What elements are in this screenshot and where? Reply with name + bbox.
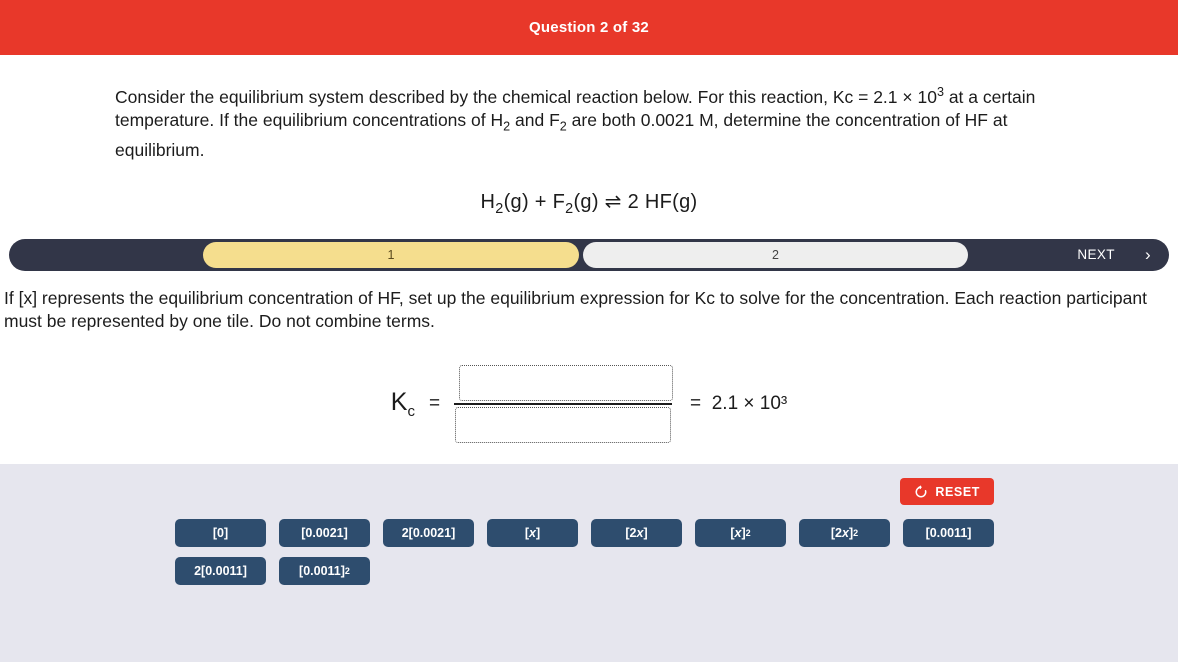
answer-tiles: [0][0.0021]2[0.0021][x][2x][x]2[2x]2[0.0… [0,505,1010,585]
question-section: Consider the equilibrium system describe… [0,55,1178,217]
numerator-dropzone[interactable] [459,365,673,401]
task-instruction: If [x] represents the equilibrium concen… [4,287,1164,334]
answer-tile[interactable]: [2x]2 [799,519,890,547]
tile-tray: RESET [0][0.0021]2[0.0021][x][2x][x]2[2x… [0,464,1178,662]
step-2-label: 2 [772,248,779,262]
kc-label: Kc [391,388,415,420]
expression-result: = 2.1 × 10³ [690,393,787,415]
step-2-pill[interactable]: 2 [583,242,968,268]
chevron-right-icon: › [1145,246,1151,263]
fraction [454,365,672,443]
answer-tile[interactable]: [0] [175,519,266,547]
step-1-pill[interactable]: 1 [203,242,579,268]
denominator-dropzone[interactable] [455,407,671,443]
answer-tile[interactable]: [2x] [591,519,682,547]
next-button[interactable]: NEXT › [1077,239,1151,271]
chemical-equation: H2(g) + F2(g) ⇌ 2 HF(g) [0,189,1178,217]
question-prompt: Consider the equilibrium system describe… [115,81,1063,163]
kc-letter: K [391,388,408,416]
reset-button[interactable]: RESET [900,478,994,505]
equals-sign-right: = [690,393,701,414]
equilibrium-expression: Kc = = 2.1 × 10³ [0,356,1178,452]
next-button-label: NEXT [1077,247,1115,262]
answer-tile[interactable]: [0.0021] [279,519,370,547]
answer-tile[interactable]: 2[0.0011] [175,557,266,585]
answer-tile[interactable]: 2[0.0021] [383,519,474,547]
step-navigation: 1 2 NEXT › [0,239,1178,271]
fraction-bar [454,403,672,405]
step-1-label: 1 [388,248,395,262]
answer-tile[interactable]: [0.0011]2 [279,557,370,585]
reset-row: RESET [0,464,1178,505]
answer-tile[interactable]: [0.0011] [903,519,994,547]
kc-value: 2.1 × 10³ [712,393,788,414]
question-header: Question 2 of 32 [0,0,1178,55]
reset-button-label: RESET [935,485,980,499]
step-nav-bar: 1 2 NEXT › [9,239,1169,271]
question-counter: Question 2 of 32 [529,19,649,36]
answer-tile[interactable]: [x]2 [695,519,786,547]
reset-icon [914,485,928,499]
kc-subscript: c [407,403,415,420]
equals-sign-left: = [429,393,440,415]
answer-tile[interactable]: [x] [487,519,578,547]
